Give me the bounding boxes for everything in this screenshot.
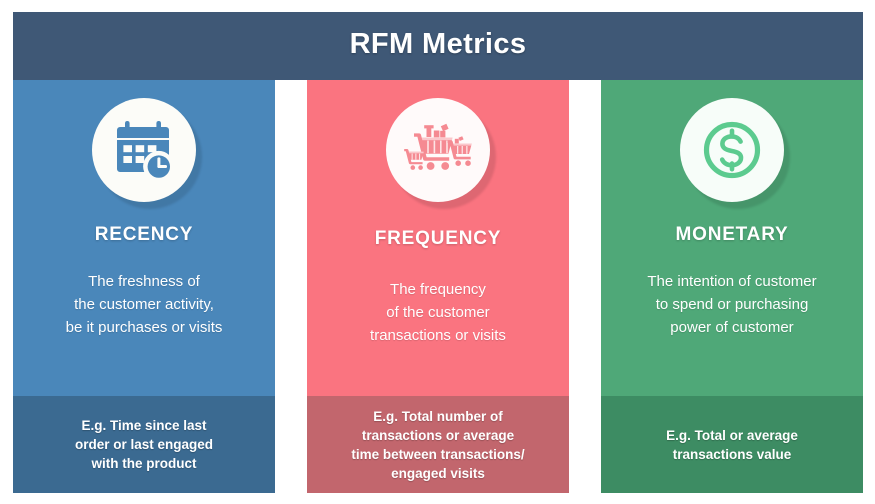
page-title: RFM Metrics xyxy=(13,28,863,61)
column-monetary-body: MONETARY The intention of customer to sp… xyxy=(601,80,863,396)
column-monetary-title: MONETARY xyxy=(601,224,863,246)
column-frequency-footer: E.g. Total number of transactions or ave… xyxy=(307,396,569,493)
infographic-frame: RFM Metrics xyxy=(13,12,863,493)
column-monetary-footer-text: E.g. Total or average transactions value xyxy=(620,426,844,464)
column-recency-description: The freshness of the customer activity, … xyxy=(13,270,275,339)
column-recency-body: RECENCY The freshness of the customer ac… xyxy=(13,80,275,396)
column-frequency-title: FREQUENCY xyxy=(307,228,569,250)
column-frequency-footer-text: E.g. Total number of transactions or ave… xyxy=(326,407,550,483)
column-recency: RECENCY The freshness of the customer ac… xyxy=(13,80,275,493)
frequency-icon-badge xyxy=(386,98,490,202)
rfm-metrics-infographic: RFM Metrics xyxy=(0,0,875,504)
header-bar: RFM Metrics xyxy=(13,12,863,80)
monetary-icon-badge xyxy=(680,98,784,202)
column-frequency: FREQUENCY The frequency of the customer … xyxy=(307,80,569,493)
recency-icon-badge xyxy=(92,98,196,202)
frequency-icon-circle xyxy=(386,98,490,202)
shopping-carts-icon xyxy=(402,119,474,181)
column-recency-footer-text: E.g. Time since last order or last engag… xyxy=(32,416,256,473)
calendar-clock-icon xyxy=(111,117,177,183)
column-frequency-description: The frequency of the customer transactio… xyxy=(307,278,569,347)
columns-container: RECENCY The freshness of the customer ac… xyxy=(13,80,863,493)
dollar-coin-icon xyxy=(699,117,765,183)
column-recency-title: RECENCY xyxy=(13,224,275,246)
column-monetary-footer: E.g. Total or average transactions value xyxy=(601,396,863,493)
column-recency-footer: E.g. Time since last order or last engag… xyxy=(13,396,275,493)
recency-icon-circle xyxy=(92,98,196,202)
monetary-icon-circle xyxy=(680,98,784,202)
column-frequency-body: FREQUENCY The frequency of the customer … xyxy=(307,80,569,396)
column-monetary-description: The intention of customer to spend or pu… xyxy=(601,270,863,339)
column-monetary: MONETARY The intention of customer to sp… xyxy=(601,80,863,493)
